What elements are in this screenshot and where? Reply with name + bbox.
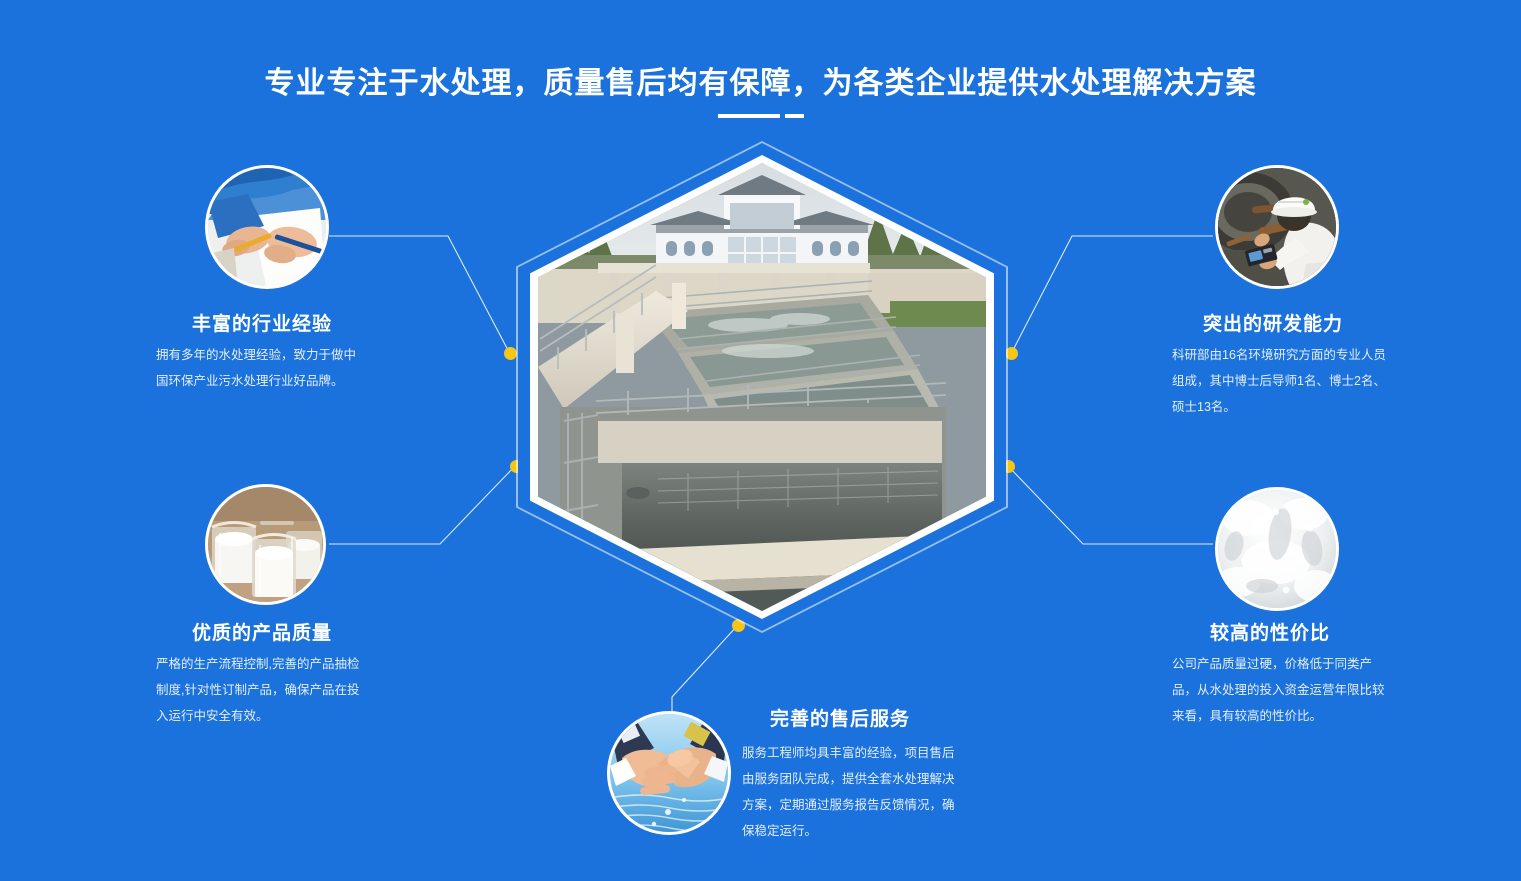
feature-icon-after-sales-service[interactable] [610, 714, 728, 832]
feature-title-industry-experience: 丰富的行业经验 [192, 309, 332, 336]
feature-icon-product-quality[interactable] [208, 487, 323, 602]
feature-title-product-quality: 优质的产品质量 [192, 618, 332, 645]
feature-title-cost-performance: 较高的性价比 [1210, 618, 1330, 645]
connector-rd-capability [1011, 236, 1213, 354]
feature-icon-industry-experience[interactable] [208, 168, 326, 286]
feature-body-rd-capability: 科研部由16名环境研究方面的专业人员组成，其中博士后导师1名、博士2名、硕士13… [1172, 342, 1388, 420]
center-hexagon-image [516, 141, 1008, 633]
feature-body-product-quality: 严格的生产流程控制,完善的产品抽检制度,针对性订制产品，确保产品在投入运行中安全… [156, 651, 362, 729]
feature-title-rd-capability: 突出的研发能力 [1203, 309, 1343, 336]
banner-stage: 专业专注于水处理，质量售后均有保障，为各类企业提供水处理解决方案 [0, 0, 1521, 881]
feature-body-after-sales-service: 服务工程师均具丰富的经验，项目售后由服务团队完成，提供全套水处理解决方案，定期通… [742, 740, 958, 844]
feature-body-cost-performance: 公司产品质量过硬，价格低于同类产品，从水处理的投入资金运营年限比较来看，具有较高… [1172, 651, 1388, 729]
feature-icon-cost-performance[interactable] [1218, 490, 1336, 608]
connector-cost-performance [1008, 466, 1213, 544]
feature-title-after-sales-service: 完善的售后服务 [770, 704, 910, 731]
connector-industry-experience [329, 236, 510, 354]
feature-icon-rd-capability[interactable] [1218, 168, 1336, 286]
feature-body-industry-experience: 拥有多年的水处理经验，致力于做中国环保产业污水处理行业好品牌。 [156, 342, 362, 394]
connector-product-quality [329, 466, 515, 544]
